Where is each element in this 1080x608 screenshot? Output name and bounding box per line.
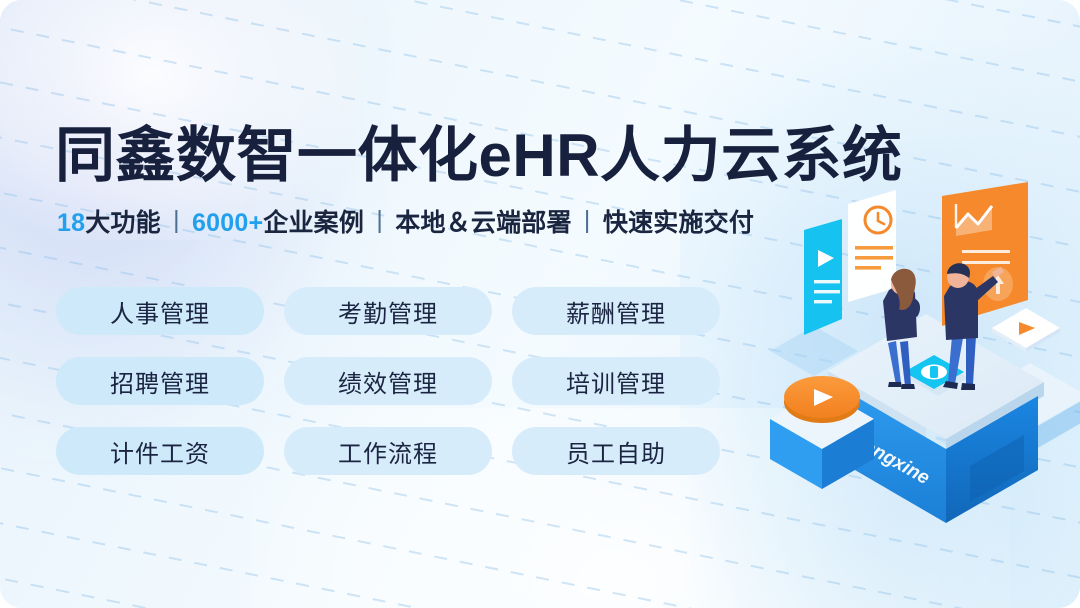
module-pill-label: 员工自助 [566,434,666,469]
module-pill-label: 薪酬管理 [566,294,666,329]
feature-label: 大功能 [85,209,161,237]
delivery-label: 快速实施交付 [603,209,754,237]
subtitle-separator-2: 丨 [364,209,395,237]
dash-line [0,574,1080,608]
module-pill-grid: 人事管理 考勤管理 薪酬管理 招聘管理 绩效管理 培训管理 计件工资 工作流程 … [56,287,720,475]
case-count: 6000+ [192,209,263,237]
module-pill-6[interactable]: 计件工资 [56,427,264,475]
module-pill-2[interactable]: 薪酬管理 [512,287,720,335]
module-pill-4[interactable]: 绩效管理 [284,357,492,405]
module-pill-8[interactable]: 员工自助 [512,427,720,475]
module-pill-3[interactable]: 招聘管理 [56,357,264,405]
subtitle: 18大功能丨6000+企业案例丨本地＆云端部署丨快速实施交付 [57,207,754,239]
ehr-promo-banner: 同鑫数智一体化eHR人力云系统 18大功能丨6000+企业案例丨本地＆云端部署丨… [0,0,1080,608]
module-pill-label: 工作流程 [338,434,438,469]
module-pill-label: 考勤管理 [338,294,438,329]
subtitle-separator-3: 丨 [572,209,603,237]
case-label: 企业案例 [263,209,364,237]
module-pill-label: 计件工资 [110,434,210,469]
module-pill-1[interactable]: 考勤管理 [284,287,492,335]
feature-count: 18 [57,209,85,237]
hero-illustration: Tongxine [756,176,1080,506]
play-panel-icon [804,219,842,335]
deploy-label: 本地＆云端部署 [395,209,571,237]
module-pill-label: 培训管理 [566,364,666,399]
play-button-pedestal [770,376,874,489]
clock-document-icon [848,190,896,302]
dash-line [0,521,1080,608]
play-card-icon [992,308,1060,352]
subtitle-separator-1: 丨 [161,209,192,237]
module-pill-0[interactable]: 人事管理 [56,287,264,335]
module-pill-label: 人事管理 [110,294,210,329]
module-pill-5[interactable]: 培训管理 [512,357,720,405]
module-pill-label: 招聘管理 [110,364,210,399]
module-pill-label: 绩效管理 [338,364,438,399]
module-pill-7[interactable]: 工作流程 [284,427,492,475]
